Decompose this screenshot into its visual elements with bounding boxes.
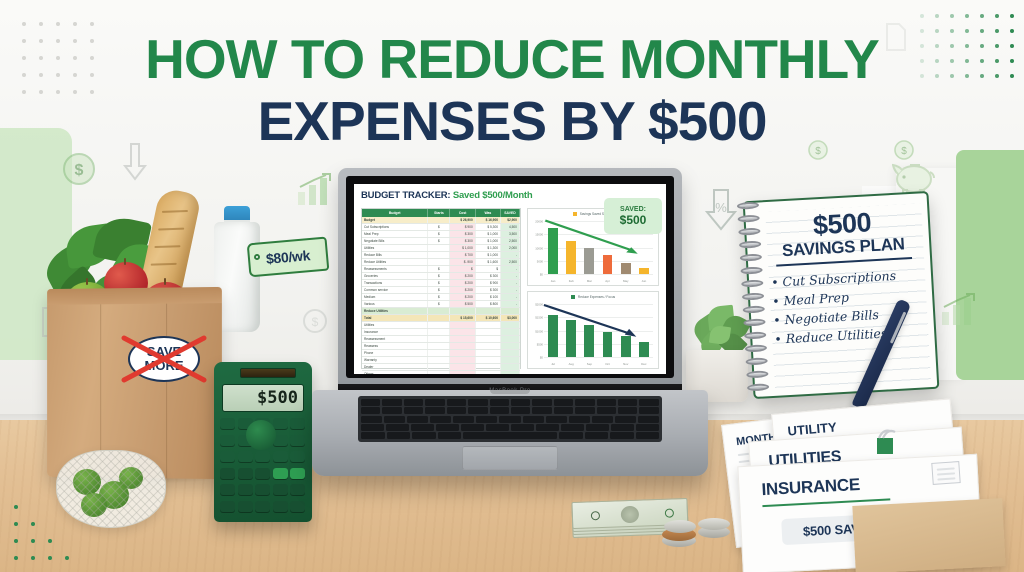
keyboard-key[interactable] [618, 399, 637, 406]
calculator-key[interactable] [220, 501, 235, 512]
calculator-key[interactable] [273, 501, 288, 512]
chart-y-tick-label: 20000 [529, 220, 543, 224]
bill-seal-left [591, 511, 600, 520]
table-cell: 2,500 [501, 259, 520, 265]
keyboard-row[interactable] [361, 407, 659, 414]
table-cell [428, 343, 450, 349]
table-cell: $ 300 [450, 238, 475, 244]
table-cell [428, 329, 450, 335]
table-cell: Medium [362, 294, 428, 300]
spreadsheet-col-header: SAVED [501, 209, 520, 217]
table-cell [501, 371, 520, 374]
budget-spreadsheet[interactable]: BudgetStartsCostWasSAVED Budget$ 26,900$… [361, 208, 521, 369]
keyboard-key[interactable] [425, 407, 444, 414]
laptop: BUDGET TRACKER: Saved $500/Month SAVED: … [312, 168, 708, 508]
spiral-ring [737, 202, 759, 210]
chart-bar[interactable] [548, 228, 558, 274]
table-row[interactable]: Utilities$ 1,000$ 1,3002,000 [362, 245, 520, 252]
chart-y-tick-label: 10000 [529, 246, 543, 250]
table-cell [476, 343, 501, 349]
keyboard-key[interactable] [499, 416, 520, 423]
keyboard-key[interactable] [463, 432, 557, 439]
bills-documents-stack: MONTHLY UTILITY UTILITIES INSU [726, 406, 1024, 572]
table-cell: - [501, 294, 520, 300]
table-cell [476, 371, 501, 374]
table-row[interactable]: Common service$$ 200$ 300- [362, 287, 520, 294]
table-row[interactable]: Reduce Utilities$ -900$ 1,6002,500 [362, 259, 520, 266]
keyboard-key[interactable] [523, 416, 544, 423]
calculator-key[interactable] [255, 451, 270, 462]
chart-expenses-h2[interactable]: Reduce Expenses / Focus $0$500$1000$1500… [527, 291, 659, 369]
chart-bar[interactable] [639, 342, 649, 357]
table-cell: $ [428, 287, 450, 293]
calculator-key[interactable] [220, 435, 235, 446]
table-cell: $ 500 [450, 301, 475, 307]
keyboard-key[interactable] [407, 416, 428, 423]
table-cell: $ 1,000 [476, 238, 501, 244]
calculator-key[interactable] [238, 484, 253, 495]
keyboard-key[interactable] [561, 424, 584, 431]
keyboard-key[interactable] [361, 407, 380, 414]
calculator[interactable]: $500 [214, 362, 312, 522]
chart-bar[interactable] [584, 325, 594, 357]
spiral-ring [737, 215, 759, 223]
calculator-key[interactable] [255, 468, 270, 479]
keyboard-key[interactable] [436, 424, 459, 431]
calculator-key[interactable] [290, 435, 305, 446]
calculator-key[interactable] [255, 501, 270, 512]
keyboard-key[interactable] [536, 424, 559, 431]
table-cell: Reassess [362, 343, 428, 349]
table-cell: $ 900 [450, 224, 475, 230]
keyboard-row[interactable] [361, 432, 659, 439]
calculator-key[interactable] [238, 451, 253, 462]
keyboard-key[interactable] [575, 407, 594, 414]
keyboard-key[interactable] [511, 407, 530, 414]
table-row[interactable]: Cut Subscriptions$$ 900$ 5,3004,500 [362, 224, 520, 231]
keyboard-key[interactable] [639, 399, 658, 406]
keyboard-key[interactable] [597, 399, 616, 406]
budget-tracker-app: BUDGET TRACKER: Saved $500/Month SAVED: … [354, 184, 666, 374]
laptop-screen[interactable]: BUDGET TRACKER: Saved $500/Month SAVED: … [354, 184, 666, 374]
table-cell [450, 336, 475, 342]
table-cell [428, 308, 450, 314]
laptop-keyboard[interactable] [358, 396, 662, 442]
table-cell: $ 1,000 [476, 231, 501, 237]
decor-dot [920, 14, 924, 18]
keyboard-key[interactable] [361, 424, 384, 431]
table-row[interactable]: Negotiate Bills$$ 300$ 1,0002,500 [362, 238, 520, 245]
table-cell [476, 322, 501, 328]
chart-x-tick-label: Aug [566, 362, 576, 366]
decor-dot [48, 556, 52, 560]
binder-clip-icon [872, 428, 898, 458]
table-cell [428, 357, 450, 363]
calculator-key[interactable] [290, 468, 305, 479]
table-cell: $ 100 [476, 294, 501, 300]
table-cell: $ [428, 231, 450, 237]
svg-text:$: $ [75, 162, 84, 179]
spiral-ring [741, 279, 763, 287]
table-row[interactable]: Reduce Utilities [362, 308, 520, 315]
chart-bar[interactable] [566, 241, 576, 274]
keyboard-row[interactable] [361, 399, 659, 406]
table-row[interactable]: Medium$$ 200$ 100- [362, 294, 520, 301]
table-cell: $ 1,000 [476, 252, 501, 258]
keyboard-key[interactable] [618, 407, 637, 414]
chart-y-tick-label: $2000 [529, 303, 543, 307]
table-cell: $ [428, 273, 450, 279]
calculator-dpad[interactable] [246, 420, 276, 450]
table-cell: $ [428, 294, 450, 300]
table-row[interactable]: Others [362, 371, 520, 374]
apple-stem [164, 278, 166, 285]
chart-x-tick-label: Dec [639, 362, 649, 366]
table-row[interactable]: Various$$ 500$ 800- [362, 301, 520, 308]
table-cell: $3,000 [501, 315, 520, 321]
table-row[interactable]: Insurance [362, 329, 520, 336]
apple-stem [124, 258, 126, 265]
keyboard-key[interactable] [461, 424, 484, 431]
table-row[interactable]: Meal Prep$$ 300$ 1,0003,500 [362, 231, 520, 238]
table-cell [476, 308, 501, 314]
calculator-display: $500 [222, 384, 304, 412]
keyboard-key[interactable] [430, 416, 451, 423]
keyboard-key[interactable] [468, 407, 487, 414]
table-cell [476, 364, 501, 370]
chart-legend-label: Reduce Expenses / Focus [578, 295, 615, 299]
table-row[interactable]: Budget$ 26,900$ 16,900$2,900 [362, 217, 520, 224]
chart-y-tick-label: 15000 [529, 233, 543, 237]
headline: HOW TO REDUCE MONTHLY EXPENSES BY $500 [0, 30, 1024, 150]
table-row[interactable]: Reassessment [362, 336, 520, 343]
decor-dot [1010, 14, 1014, 18]
decor-dot [14, 556, 18, 560]
table-row[interactable]: Transactions$$ 200$ 900- [362, 280, 520, 287]
table-cell: $ 1,600 [476, 259, 501, 265]
table-row[interactable]: Reduce Bills$ 700$ 1,000- [362, 252, 520, 259]
chart-bar[interactable] [621, 336, 631, 357]
keyboard-key[interactable] [532, 399, 551, 406]
laptop-lid: BUDGET TRACKER: Saved $500/Month SAVED: … [338, 168, 682, 398]
spiral-ring [742, 292, 764, 300]
table-cell [428, 259, 450, 265]
red-cross-out-icon [120, 334, 208, 384]
table-cell: - [501, 273, 520, 279]
table-cell: $ 5,300 [476, 224, 501, 230]
decor-dot [39, 22, 43, 26]
chart-bar[interactable] [639, 268, 649, 274]
table-cell [428, 217, 450, 223]
table-cell: - [501, 266, 520, 272]
decor-dot [22, 22, 26, 26]
keyboard-key[interactable] [554, 399, 573, 406]
keyboard-key[interactable] [447, 399, 466, 406]
spiral-ring [744, 331, 766, 339]
table-cell: Reduce Bills [362, 252, 428, 258]
table-row[interactable]: Groceries$$ 200$ 300- [362, 273, 520, 280]
table-cell: - [501, 287, 520, 293]
table-cell: $ 26,900 [450, 217, 475, 223]
calculator-key[interactable] [220, 484, 235, 495]
chart-x-axis-labels: JulAugSepOctNovDec [544, 362, 653, 366]
keyboard-row[interactable] [361, 416, 659, 423]
keyboard-key[interactable] [546, 416, 567, 423]
keyboard-key[interactable] [490, 407, 509, 414]
spiral-ring [745, 357, 767, 365]
table-row[interactable]: Reassessments$$$- [362, 266, 520, 273]
table-cell [428, 322, 450, 328]
laptop-trackpad[interactable] [462, 446, 558, 470]
table-cell: Negotiate Bills [362, 238, 428, 244]
table-cell: Common service [362, 287, 428, 293]
table-row[interactable]: Total$ 15,600$ 10,600$3,000 [362, 315, 520, 322]
calculator-key[interactable] [290, 501, 305, 512]
keyboard-key[interactable] [384, 416, 405, 423]
table-cell: $ [428, 238, 450, 244]
chart-x-tick-label: Jul [548, 362, 558, 366]
keyboard-key[interactable] [586, 424, 609, 431]
table-row[interactable]: Reassess [362, 343, 520, 350]
keyboard-key[interactable] [476, 416, 497, 423]
manila-envelope [852, 498, 1005, 572]
keyboard-key[interactable] [554, 407, 573, 414]
keyboard-key[interactable] [387, 432, 411, 439]
document-insurance-title: INSURANCE [761, 475, 860, 500]
table-cell: Insurance [362, 329, 428, 335]
table-cell [428, 336, 450, 342]
keyboard-key[interactable] [610, 432, 634, 439]
table-cell [476, 329, 501, 335]
headline-line-2: EXPENSES BY $500 [0, 92, 1024, 150]
calculator-key[interactable] [220, 451, 235, 462]
table-cell [450, 371, 475, 374]
spiral-ring [740, 266, 762, 274]
chart-y-tick-label: $0 [529, 356, 543, 360]
spiral-ring [746, 370, 768, 378]
apple-stem [86, 278, 88, 285]
percent-down-arrow-icon: % [704, 188, 738, 232]
spiral-ring [740, 253, 762, 261]
table-cell: $ 800 [476, 301, 501, 307]
table-cell: 2,000 [501, 245, 520, 251]
chart-bar[interactable] [621, 263, 631, 274]
keyboard-key[interactable] [490, 399, 509, 406]
calculator-key[interactable] [220, 468, 235, 479]
decor-dot [31, 539, 35, 543]
chart-x-tick-label: Feb [566, 279, 576, 283]
chart-bar[interactable] [584, 248, 594, 275]
keyboard-key[interactable] [468, 399, 487, 406]
chart-y-tick-label: 5000 [529, 259, 543, 263]
table-cell: Warranty [362, 357, 428, 363]
calculator-key[interactable] [273, 451, 288, 462]
keyboard-key[interactable] [639, 407, 658, 414]
calculator-key[interactable] [290, 484, 305, 495]
table-cell: $ 300 [476, 273, 501, 279]
calculator-key[interactable] [273, 418, 288, 429]
keyboard-key[interactable] [575, 399, 594, 406]
table-cell [476, 357, 501, 363]
table-cell [476, 350, 501, 356]
table-cell: $ 1,000 [450, 245, 475, 251]
table-cell: $ 10,600 [476, 315, 501, 321]
chart-x-tick-label: Sep [584, 362, 594, 366]
table-cell: Dealer [362, 364, 428, 370]
keyboard-key[interactable] [486, 424, 509, 431]
svg-text:%: % [715, 200, 727, 215]
table-cell: $ 200 [450, 287, 475, 293]
spiral-ring [739, 240, 761, 248]
chart-x-tick-label: May [621, 279, 631, 283]
chart-plot-area: $0$500$1000$1500$2000 [544, 304, 653, 357]
keyboard-key[interactable] [611, 424, 634, 431]
coin-right-top [698, 518, 730, 530]
keyboard-key[interactable] [438, 432, 462, 439]
spreadsheet-header-row: BudgetStartsCostWasSAVED [362, 209, 520, 217]
chart-bar[interactable] [603, 255, 613, 274]
chart-growth-icon [940, 292, 982, 326]
table-row[interactable]: Phone [362, 350, 520, 357]
keyboard-key[interactable] [361, 399, 380, 406]
calculator-key[interactable] [273, 468, 288, 479]
keyboard-key[interactable] [404, 399, 423, 406]
chart-x-tick-label: Nov [621, 362, 631, 366]
keyboard-key[interactable] [412, 432, 436, 439]
chart-x-tick-label: Jan [548, 279, 558, 283]
keyboard-key[interactable] [597, 407, 616, 414]
table-row[interactable]: Warranty [362, 357, 520, 364]
table-row[interactable]: Utilities [362, 322, 520, 329]
table-cell: Transactions [362, 280, 428, 286]
saved-badge-amount: $500 [620, 214, 647, 227]
keyboard-key[interactable] [615, 416, 636, 423]
spreadsheet-col-header: Budget [362, 209, 428, 217]
table-cell: Various [362, 301, 428, 307]
calculator-key[interactable] [220, 418, 235, 429]
chart-bar[interactable] [566, 320, 576, 357]
table-cell: $ 16,900 [476, 217, 501, 223]
table-cell: $ 300 [450, 231, 475, 237]
table-cell [501, 308, 520, 314]
decor-dot [995, 14, 999, 18]
keyboard-row[interactable] [361, 424, 659, 431]
table-cell: $ [428, 280, 450, 286]
keyboard-key[interactable] [638, 416, 659, 423]
table-cell [428, 315, 450, 321]
table-cell [476, 336, 501, 342]
decor-dot [980, 14, 984, 18]
table-cell: - [501, 301, 520, 307]
laptop-bezel: BUDGET TRACKER: Saved $500/Month SAVED: … [346, 176, 674, 378]
keyboard-key[interactable] [425, 399, 444, 406]
screen-title-accent: Saved $500/Month [453, 190, 533, 201]
table-cell [428, 252, 450, 258]
table-cell: Cut Subscriptions [362, 224, 428, 230]
table-cell: $ 1,300 [476, 245, 501, 251]
keyboard-key[interactable] [447, 407, 466, 414]
keyboard-key[interactable] [585, 432, 609, 439]
calculator-key[interactable] [290, 451, 305, 462]
dollar-circle-icon: $ [62, 152, 96, 186]
decor-green-panel-right [956, 150, 1024, 380]
keyboard-key[interactable] [386, 424, 409, 431]
table-cell: $ 15,600 [450, 315, 475, 321]
chart-bar[interactable] [548, 315, 558, 357]
keyboard-key[interactable] [559, 432, 583, 439]
poster-canvas: $ $ $ % $ $ HOW TO REDUCE MONTHLY EXPENS… [0, 0, 1024, 572]
keyboard-key[interactable] [382, 399, 401, 406]
table-cell: 2,500 [501, 238, 520, 244]
chart-y-tick-label: $1000 [529, 329, 543, 333]
calculator-key[interactable] [238, 468, 253, 479]
keyboard-key[interactable] [361, 416, 382, 423]
keyboard-key[interactable] [411, 424, 434, 431]
envelope-stamp [931, 461, 960, 485]
table-cell: Reassessments [362, 266, 428, 272]
table-cell [501, 357, 520, 363]
decor-dot [14, 539, 18, 543]
keyboard-key[interactable] [511, 399, 530, 406]
table-cell: $ 900 [476, 280, 501, 286]
laptop-lip-notch [490, 390, 530, 394]
table-cell [450, 343, 475, 349]
table-row[interactable]: Dealer [362, 364, 520, 371]
spreadsheet-rows[interactable]: Budget$ 26,900$ 16,900$2,900Cut Subscrip… [362, 217, 520, 374]
keyboard-key[interactable] [532, 407, 551, 414]
decor-dot [950, 14, 954, 18]
chart-y-tick-label: $500 [529, 342, 543, 346]
calculator-key[interactable] [238, 501, 253, 512]
table-cell: Reduce Utilities [362, 259, 428, 265]
table-cell: 4,500 [501, 224, 520, 230]
calculator-display-value: $500 [257, 388, 298, 408]
table-cell: Meal Prep [362, 231, 428, 237]
decor-dot [90, 22, 94, 26]
chart-y-tick-label: $0 [529, 273, 543, 277]
keyboard-key[interactable] [636, 424, 659, 431]
decor-dot [65, 556, 69, 560]
table-cell [450, 322, 475, 328]
table-cell: Utilities [362, 245, 428, 251]
keyboard-key[interactable] [404, 407, 423, 414]
calculator-key[interactable] [273, 484, 288, 495]
spiral-ring [747, 383, 769, 391]
keyboard-key[interactable] [453, 416, 474, 423]
chart-x-tick-label: Apr [603, 279, 613, 283]
chart-bar[interactable] [603, 332, 613, 357]
calculator-solar-panel [240, 368, 296, 378]
calculator-key[interactable] [290, 418, 305, 429]
calculator-key[interactable] [255, 484, 270, 495]
table-cell [428, 371, 450, 374]
decor-dot [14, 522, 18, 526]
keyboard-key[interactable] [361, 432, 385, 439]
keyboard-key[interactable] [636, 432, 660, 439]
bag-crease [166, 304, 167, 479]
keyboard-key[interactable] [511, 424, 534, 431]
price-tag-label: $80/wk [265, 247, 310, 267]
table-cell: Others [362, 371, 428, 374]
table-cell: Reassessment [362, 336, 428, 342]
keyboard-key[interactable] [569, 416, 590, 423]
table-cell [501, 350, 520, 356]
keyboard-key[interactable] [592, 416, 613, 423]
keyboard-key[interactable] [382, 407, 401, 414]
table-cell: $ 700 [450, 252, 475, 258]
table-cell: $ -900 [450, 259, 475, 265]
mesh-produce-bag [56, 450, 166, 528]
